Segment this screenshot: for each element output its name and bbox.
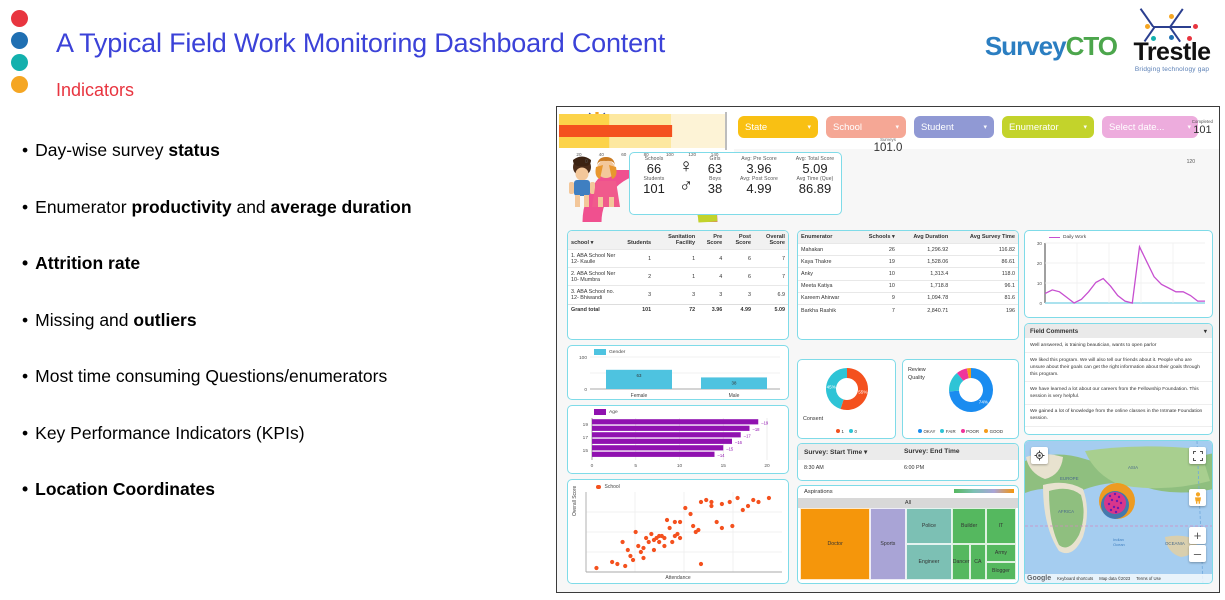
- age-axis-tick: 10: [677, 463, 683, 469]
- table-cell: 3. ABA School no. 12- Bhiwandi: [568, 286, 624, 304]
- filter-enumerator[interactable]: Enumerator▾: [1002, 116, 1094, 138]
- table-cell: 3: [725, 286, 754, 304]
- scatter-plot: [568, 480, 789, 584]
- legend-label: GOOD: [990, 429, 1003, 434]
- consent-donut-plot: 55%45%: [798, 360, 896, 420]
- comment-item: We have learned a lot about our careers …: [1025, 382, 1212, 404]
- gender-legend-swatch: [594, 349, 606, 355]
- gender-bar-chart: Gender 100063Female38Male: [567, 345, 789, 400]
- scatter-point: [639, 550, 643, 554]
- legend-swatch: [940, 429, 944, 433]
- age-bar-value: –15: [726, 446, 734, 451]
- donut-slice-label: 45%: [827, 384, 836, 389]
- street-view-icon[interactable]: [1189, 489, 1206, 506]
- bullet-item: •Missing and outliers: [22, 310, 562, 331]
- treemap-cell[interactable]: Doctor: [800, 508, 870, 580]
- dot-blue: [11, 32, 28, 49]
- table-cell: 7: [754, 250, 788, 268]
- compass-icon[interactable]: [1031, 447, 1048, 464]
- decorative-dot-column: [11, 10, 33, 98]
- scatter-point: [756, 500, 760, 504]
- scatter-point: [699, 500, 703, 504]
- column-header[interactable]: Post Score: [725, 231, 754, 250]
- table-cell: 3: [654, 286, 698, 304]
- review-quality-caption: Review Quality: [908, 366, 940, 382]
- table-cell: Anky: [798, 268, 856, 280]
- line-legend-swatch: [1049, 237, 1060, 239]
- survey-time-header[interactable]: Survey: Start Time ▾ Survey: End Time: [798, 444, 1018, 460]
- svg-text:EUROPE: EUROPE: [1060, 476, 1079, 481]
- survey-time-values: 8:30 AM 6:00 PM: [798, 460, 1018, 476]
- zoom-in-button[interactable]: +: [1189, 527, 1206, 544]
- table-row[interactable]: 2. ABA School Ner 10- Mumbra21467: [568, 268, 788, 286]
- bullet-item: •Attrition rate: [22, 253, 562, 274]
- legend-label: POOR: [966, 429, 979, 434]
- table-cell: 1,296.92: [898, 244, 951, 256]
- filter-label: Enumerator: [1009, 122, 1059, 133]
- treemap-color-legend: [954, 489, 1014, 493]
- scatter-point: [634, 530, 638, 534]
- kpi-value: 86.89: [786, 182, 842, 196]
- dot-red: [11, 10, 28, 27]
- table-cell: 1: [624, 250, 654, 268]
- treemap-cell[interactable]: Army: [986, 544, 1016, 562]
- filter-school[interactable]: School▾: [826, 116, 906, 138]
- age-category-label: 19: [583, 422, 589, 428]
- chevron-down-icon[interactable]: ▾: [983, 123, 987, 131]
- scatter-point: [641, 546, 645, 550]
- age-legend-label: Age: [609, 410, 618, 415]
- age-bar-value: –17: [744, 433, 752, 438]
- column-header[interactable]: Avg Survey Time: [951, 231, 1018, 244]
- review-quality-legend: OKAYFAIRPOORGOOD: [903, 429, 1018, 434]
- treemap-cell[interactable]: Builder: [952, 508, 985, 544]
- filter-label: Student: [921, 122, 954, 133]
- table-cell: 1,313.4: [898, 268, 951, 280]
- table-cell: 2,840.71: [898, 304, 951, 316]
- column-header[interactable]: Schools ▾: [856, 231, 898, 244]
- line-chart-plot: 3020100: [1025, 231, 1213, 318]
- scatter-legend-swatch: [596, 485, 601, 490]
- male-icon: ♂: [674, 176, 698, 196]
- treemap-row: DancerCA: [952, 544, 985, 580]
- column-header[interactable]: school ▾: [568, 231, 624, 250]
- kpi-avg-total-score: Avg: Total Score5.09: [786, 156, 842, 176]
- gender-axis-tick: 0: [584, 387, 587, 393]
- scatter-point: [644, 536, 648, 540]
- survey-end-header: Survey: End Time: [904, 448, 960, 456]
- line-axis-tick: 30: [1037, 241, 1043, 246]
- review-quality-donut-chart: Review Quality 74% OKAYFAIRPOORGOOD: [902, 359, 1019, 439]
- gauge-max-label: 120: [1187, 159, 1195, 165]
- page-subtitle: Indicators: [56, 80, 134, 101]
- trestle-mark-icon: [1123, 14, 1221, 40]
- surveycto-logo-part2: CTO: [1066, 31, 1117, 61]
- legend-item[interactable]: OKAY: [918, 429, 935, 434]
- scatter-y-axis-label: Overall Score: [572, 486, 578, 516]
- age-bar: [592, 445, 723, 450]
- filter-state[interactable]: State▾: [738, 116, 818, 138]
- bullet-chart-legend-value: 101: [1192, 124, 1213, 136]
- table-cell: 101: [624, 304, 654, 316]
- scatter-point: [662, 536, 666, 540]
- filter-student[interactable]: Student▾: [914, 116, 994, 138]
- scatter-point: [683, 506, 687, 510]
- line-chart-legend: Daily Work: [1049, 235, 1086, 240]
- svg-text:ASIA: ASIA: [1128, 465, 1138, 470]
- gender-bar-value: 38: [732, 380, 737, 385]
- consent-donut-chart: Consent 55%45% 10: [797, 359, 896, 439]
- age-bar-value: –19: [761, 420, 769, 425]
- legend-swatch: [984, 429, 988, 433]
- filter-label: Select date...: [1109, 122, 1164, 133]
- scatter-point: [626, 548, 630, 552]
- map-attr-1[interactable]: Keyboard shortcuts: [1057, 576, 1093, 581]
- table-row[interactable]: Kaya Thakre191,528.0686.61: [798, 256, 1018, 268]
- column-header[interactable]: Overall Score: [754, 231, 788, 250]
- location-map[interactable]: ASIA EUROPE AFRICA OCEANIA Indian Ocean …: [1024, 440, 1213, 584]
- table-row[interactable]: Meeta Katiya101,718.896.1: [798, 280, 1018, 292]
- dot-orange: [11, 76, 28, 93]
- table-cell: Kaya Thakre: [798, 256, 856, 268]
- table-cell: Meeta Katiya: [798, 280, 856, 292]
- gauge-min-label: 0: [585, 159, 588, 165]
- legend-label: FAIR: [946, 429, 956, 434]
- scatter-point: [746, 504, 750, 508]
- table-cell: 4: [698, 268, 725, 286]
- logo-area: SurveyCTO Trestle Bridging technology ga…: [985, 14, 1221, 76]
- table-row[interactable]: 1. ABA School Ner 12- Kaulle11467: [568, 250, 788, 268]
- scatter-point: [751, 498, 755, 502]
- table-cell: 3: [698, 286, 725, 304]
- grand-total-row: Grand total101723.964.995.09: [568, 304, 788, 316]
- age-bar: [592, 452, 715, 457]
- enumerator-table-card[interactable]: EnumeratorSchools ▾Avg DurationAvg Surve…: [797, 230, 1019, 340]
- field-comments-card[interactable]: Field Comments ▾ Well answered, is train…: [1024, 323, 1213, 435]
- legend-item[interactable]: 1: [836, 429, 844, 434]
- column-header[interactable]: Enumerator: [798, 231, 856, 244]
- age-chart-legend: Age: [594, 409, 618, 415]
- table-cell: 19: [856, 256, 898, 268]
- kpi-schools: Schools66: [634, 156, 674, 176]
- google-watermark: Google: [1027, 575, 1051, 582]
- school-table-card[interactable]: school ▾StudentsSanitation FacilityPre S…: [567, 230, 789, 340]
- legend-label: 0: [855, 429, 857, 434]
- table-row[interactable]: 3. ABA School no. 12- Bhiwandi33336.9: [568, 286, 788, 304]
- table-cell: 5.09: [754, 304, 788, 316]
- bullet-item: •Key Performance Indicators (KPIs): [22, 423, 562, 444]
- scatter-point: [647, 540, 651, 544]
- scatter-legend: School: [596, 484, 620, 490]
- age-bar: [592, 432, 741, 437]
- treemap-cell[interactable]: Dancer: [952, 544, 969, 580]
- field-comments-header[interactable]: Field Comments ▾: [1025, 324, 1212, 338]
- treemap-cell[interactable]: CA: [970, 544, 986, 580]
- legend-item[interactable]: GOOD: [984, 429, 1003, 434]
- school-table[interactable]: school ▾StudentsSanitation FacilityPre S…: [568, 231, 788, 316]
- table-row[interactable]: Anky101,313.4118.0: [798, 268, 1018, 280]
- scatter-point: [636, 544, 640, 548]
- kpi-summary-card: Schools66♀Girls63Avg: Pre Score3.96Avg: …: [629, 152, 842, 215]
- kpi-avg-pre-score: Avg: Pre Score3.96: [732, 156, 786, 176]
- map-attr-3[interactable]: Terms of Use: [1136, 576, 1161, 581]
- treemap-cell[interactable]: IT: [986, 508, 1016, 544]
- scatter-point: [665, 518, 669, 522]
- line-axis-tick: 10: [1037, 281, 1043, 286]
- field-comments-list: Well answered, is training beautician, w…: [1025, 338, 1212, 427]
- legend-swatch: [849, 429, 853, 433]
- age-chart-plot: 05101520–19–18–17–16–15–14191715: [568, 406, 789, 474]
- line-axis-tick: 20: [1037, 261, 1043, 266]
- kpi-value: 101: [634, 182, 674, 196]
- survey-time-card[interactable]: Survey: Start Time ▾ Survey: End Time 8:…: [797, 443, 1019, 481]
- kpi-boys: Boys38: [698, 176, 732, 196]
- age-category-label: 15: [583, 448, 589, 454]
- comment-item: We liked this program. We will also tell…: [1025, 353, 1212, 382]
- age-category-label: 17: [583, 435, 589, 441]
- treemap-cells: DoctorSportsPoliceEngineerBuilderDancerC…: [800, 508, 1016, 580]
- scatter-point: [715, 520, 719, 524]
- column-header[interactable]: Sanitation Facility: [654, 231, 698, 250]
- chevron-down-icon[interactable]: ▾: [807, 123, 811, 131]
- scatter-point: [668, 526, 672, 530]
- table-cell: 4.99: [725, 304, 754, 316]
- table-cell: 9: [856, 292, 898, 304]
- bullet-text: Day-wise survey status: [35, 140, 220, 161]
- scatter-point: [670, 540, 674, 544]
- chevron-down-icon[interactable]: ▾: [1083, 123, 1087, 131]
- bullet-text: Key Performance Indicators (KPIs): [35, 423, 304, 444]
- filter-select-date[interactable]: Select date...▾: [1102, 116, 1198, 138]
- bullet-item: •Location Coordinates: [22, 479, 562, 500]
- table-cell: 6.9: [754, 286, 788, 304]
- daily-work-line-chart: Daily Work 3020100: [1024, 230, 1213, 318]
- survey-start-value: 8:30 AM: [804, 465, 904, 471]
- chevron-down-icon[interactable]: ▾: [1187, 123, 1191, 131]
- bullet-marker: •: [22, 197, 28, 218]
- treemap-cell[interactable]: Blogger: [986, 562, 1016, 580]
- column-header[interactable]: Avg Duration: [898, 231, 951, 244]
- survey-start-header[interactable]: Survey: Start Time ▾: [804, 448, 904, 456]
- scatter-point: [657, 540, 661, 544]
- scatter-point: [641, 556, 645, 560]
- enumerator-table[interactable]: EnumeratorSchools ▾Avg DurationAvg Surve…: [798, 231, 1018, 316]
- table-cell: 96.1: [951, 280, 1018, 292]
- scatter-point: [720, 526, 724, 530]
- gender-category-label: Male: [729, 393, 740, 399]
- bullet-text: Missing and outliers: [35, 310, 196, 331]
- table-cell: 196: [951, 304, 1018, 316]
- map-attribution-bar: Google Keyboard shortcuts Map data ©2023…: [1025, 574, 1212, 583]
- scatter-point: [615, 562, 619, 566]
- fullscreen-icon[interactable]: [1189, 447, 1206, 464]
- aspirations-treemap: Aspirations All DoctorSportsPoliceEngine…: [797, 485, 1019, 584]
- table-cell: Kareem Ahirwar: [798, 292, 856, 304]
- legend-item[interactable]: 0: [849, 429, 857, 434]
- trestle-logo: Trestle Bridging technology gap: [1123, 14, 1221, 73]
- table-row[interactable]: Kareem Ahirwar91,094.7881.6: [798, 292, 1018, 304]
- line-axis-tick: 0: [1039, 301, 1042, 306]
- age-axis-tick: 0: [591, 463, 594, 469]
- table-header-row: school ▾StudentsSanitation FacilityPre S…: [568, 231, 788, 250]
- table-cell: Mahakan: [798, 244, 856, 256]
- table-row[interactable]: Barkha Rashik72,840.71196: [798, 304, 1018, 316]
- treemap-column: ITArmyBlogger: [986, 508, 1016, 580]
- table-cell: 116.82: [951, 244, 1018, 256]
- bullet-chart-legend: Completed 101: [1192, 119, 1213, 136]
- donut-slice-label: 55%: [858, 390, 867, 395]
- table-cell: 3.96: [698, 304, 725, 316]
- table-cell: 1: [654, 250, 698, 268]
- age-axis-tick: 5: [634, 463, 637, 469]
- bullet-marker: •: [22, 479, 28, 500]
- kpi-value: 3.96: [732, 162, 786, 176]
- legend-label: 1: [842, 429, 844, 434]
- kpi-avg-time-que: Avg Time (Que)86.89: [786, 176, 842, 196]
- kpi-value: 66: [634, 162, 674, 176]
- kpi-grid: Schools66♀Girls63Avg: Pre Score3.96Avg: …: [630, 153, 841, 196]
- gender-axis-tick: 100: [579, 355, 587, 361]
- scatter-point: [594, 566, 598, 570]
- consent-caption: Consent: [803, 416, 823, 422]
- table-cell: 1,718.8: [898, 280, 951, 292]
- scatter-point: [623, 564, 627, 568]
- bullet-text: Attrition rate: [35, 253, 140, 274]
- column-header[interactable]: Students: [624, 231, 654, 250]
- svg-text:OCEANIA: OCEANIA: [1165, 541, 1185, 546]
- surveycto-logo-part1: Survey: [985, 31, 1066, 61]
- table-cell: 3: [624, 286, 654, 304]
- bullet-marker: •: [22, 253, 28, 274]
- scatter-point: [691, 524, 695, 528]
- scatter-point: [649, 532, 653, 536]
- chevron-down-icon[interactable]: ▾: [864, 449, 867, 456]
- legend-item[interactable]: POOR: [961, 429, 979, 434]
- treemap-cell[interactable]: Sports: [870, 508, 905, 580]
- table-cell: 2. ABA School Ner 10- Mumbra: [568, 268, 624, 286]
- kpi-students: Students101: [634, 176, 674, 196]
- scatter-point: [631, 558, 635, 562]
- scatter-x-axis-label: Attendance: [568, 575, 788, 581]
- bullet-text: Location Coordinates: [35, 479, 215, 500]
- gender-legend-label: Gender: [609, 350, 625, 355]
- table-cell: 2: [624, 268, 654, 286]
- trestle-wordmark: Trestle: [1123, 40, 1221, 65]
- indicator-bullet-list: •Day-wise survey status•Enumerator produ…: [22, 140, 562, 536]
- age-bar: [592, 419, 758, 424]
- survey-start-header-label: Survey: Start Time: [804, 449, 862, 456]
- scatter-point: [675, 532, 679, 536]
- table-cell: 7: [856, 304, 898, 316]
- scatter-point: [709, 504, 713, 508]
- svg-text:AFRICA: AFRICA: [1058, 509, 1074, 514]
- age-legend-swatch: [594, 409, 606, 415]
- students-illustration: [565, 155, 625, 211]
- table-cell: Grand total: [568, 304, 624, 316]
- table-row[interactable]: Mahakan261,296.92116.82: [798, 244, 1018, 256]
- treemap-cell[interactable]: Engineer: [906, 544, 953, 580]
- scatter-point: [735, 496, 739, 500]
- scatter-point: [720, 502, 724, 506]
- table-cell: 1. ABA School Ner 12- Kaulle: [568, 250, 624, 268]
- table-cell: 118.0: [951, 268, 1018, 280]
- scatter-point: [699, 562, 703, 566]
- table-cell: 4: [698, 250, 725, 268]
- donut-slice-label: 74%: [979, 400, 988, 405]
- table-cell: 1,528.06: [898, 256, 951, 268]
- gauge-value-text: 101.0: [557, 142, 1219, 154]
- kpi-value: 38: [698, 182, 732, 196]
- zoom-out-button[interactable]: –: [1189, 545, 1206, 562]
- survey-end-value: 6:00 PM: [904, 465, 924, 471]
- table-cell: 26: [856, 244, 898, 256]
- table-cell: 10: [856, 268, 898, 280]
- table-cell: 6: [725, 268, 754, 286]
- chevron-down-icon[interactable]: ▾: [1204, 328, 1207, 335]
- column-header[interactable]: Pre Score: [698, 231, 725, 250]
- legend-item[interactable]: FAIR: [940, 429, 955, 434]
- bullet-item: •Day-wise survey status: [22, 140, 562, 161]
- table-cell: 10: [856, 280, 898, 292]
- attendance-score-scatter-chart: School Overall Score Attendance: [567, 479, 789, 584]
- legend-swatch: [836, 429, 840, 433]
- gauge-value-label: Surveys 101.0: [557, 137, 1219, 154]
- filter-label: School: [833, 122, 862, 133]
- bullet-item: •Most time consuming Questions/enumerato…: [22, 366, 562, 387]
- gender-chart-legend: Gender: [594, 349, 625, 355]
- map-attr-2: Map data ©2023: [1099, 576, 1130, 581]
- kpi-value: 63: [698, 162, 732, 176]
- age-bar-chart: Age 05101520–19–18–17–16–15–14191715: [567, 405, 789, 474]
- bullet-marker: •: [22, 366, 28, 387]
- surveycto-logo: SurveyCTO: [985, 31, 1117, 62]
- dot-teal: [11, 54, 28, 71]
- scatter-point: [688, 512, 692, 516]
- dashboard-screenshot: Trestle Bridging technology gap School I…: [556, 106, 1220, 593]
- table-cell: 1,094.78: [898, 292, 951, 304]
- kpi-avg-post-score: Avg: Post Score4.99: [732, 176, 786, 196]
- age-bar: [592, 439, 732, 444]
- table-cell: 6: [725, 250, 754, 268]
- scatter-point: [767, 496, 771, 500]
- table-cell: 81.6: [951, 292, 1018, 304]
- bullet-marker: •: [22, 423, 28, 444]
- kpi-girls: Girls63: [698, 156, 732, 176]
- map-canvas[interactable]: ASIA EUROPE AFRICA OCEANIA Indian Ocean: [1025, 441, 1213, 584]
- legend-swatch: [918, 429, 922, 433]
- consent-legend: 10: [798, 429, 895, 434]
- chevron-down-icon[interactable]: ▾: [895, 123, 899, 131]
- scatter-point: [728, 500, 732, 504]
- table-cell: 86.61: [951, 256, 1018, 268]
- scatter-point: [696, 528, 700, 532]
- bullet-marker: •: [22, 310, 28, 331]
- scatter-point: [610, 560, 614, 564]
- table-cell: 7: [754, 268, 788, 286]
- treemap-column: BuilderDancerCA: [952, 508, 985, 580]
- age-bar: [592, 426, 750, 431]
- treemap-cell[interactable]: Police: [906, 508, 953, 544]
- scatter-point: [704, 498, 708, 502]
- comment-item: We gained a lot of knowledge from the on…: [1025, 405, 1212, 427]
- scatter-point: [741, 508, 745, 512]
- female-icon: ♀: [674, 156, 698, 176]
- table-cell: Barkha Rashik: [798, 304, 856, 316]
- age-bar-value: –14: [718, 453, 726, 458]
- line-legend-label: Daily Work: [1063, 235, 1086, 240]
- kpi-value: 4.99: [732, 182, 786, 196]
- scatter-point: [673, 520, 677, 524]
